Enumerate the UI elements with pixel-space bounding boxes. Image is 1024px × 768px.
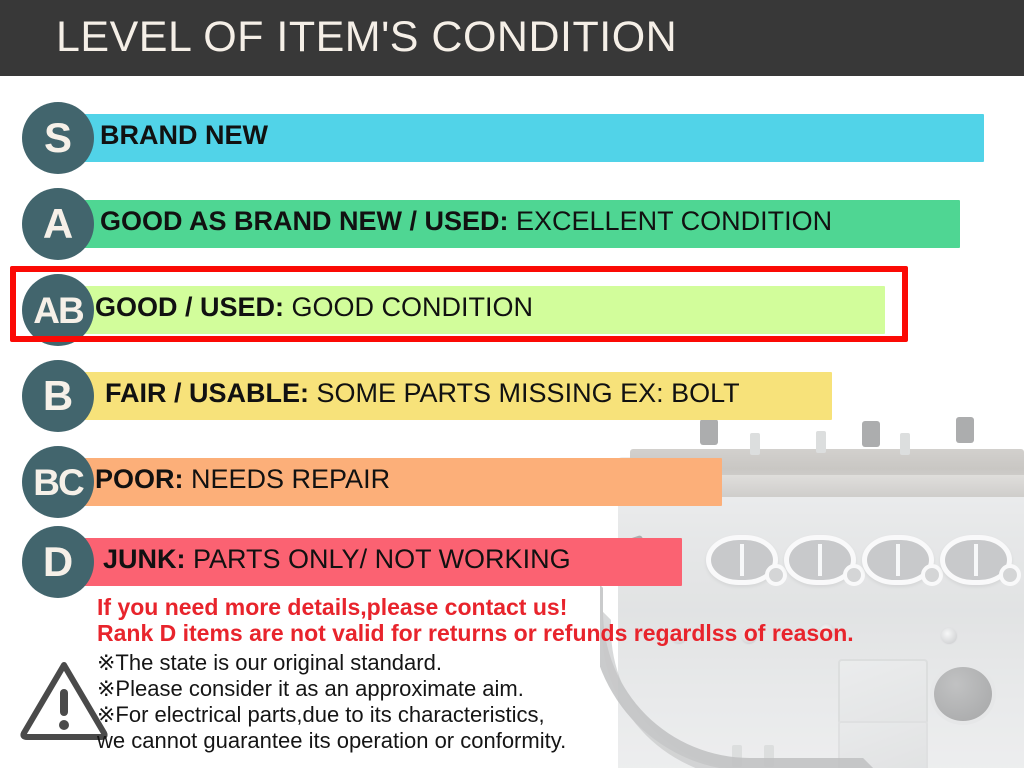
- rank-label-s: BRAND NEW: [100, 120, 268, 150]
- header-bar: LEVEL OF ITEM'S CONDITION: [0, 0, 1024, 76]
- rank-badge-d: D: [22, 526, 94, 598]
- rank-badge-s: S: [22, 102, 94, 174]
- notice-line-3: ※For electrical parts,due to its charact…: [97, 702, 997, 728]
- notice-block: If you need more details,please contact …: [97, 594, 997, 754]
- rank-text-d: JUNK: PARTS ONLY/ NOT WORKING: [103, 544, 571, 575]
- rank-badge-letter: BC: [33, 464, 82, 501]
- rank-text-b: FAIR / USABLE: SOME PARTS MISSING EX: BO…: [105, 378, 740, 409]
- selected-rank-highlight-box: [10, 266, 908, 342]
- condition-level-infographic: LEVEL OF ITEM'S CONDITION S BRAND NEW A …: [0, 0, 1024, 768]
- rank-text-s: BRAND NEW: [100, 120, 268, 151]
- rank-badge-letter: A: [43, 203, 73, 245]
- rank-badge-bc: BC: [22, 446, 94, 518]
- notice-line-2: ※Please consider it as an approximate ai…: [97, 676, 997, 702]
- rank-label-a: GOOD AS BRAND NEW / USED:: [100, 206, 509, 236]
- rank-desc-d: PARTS ONLY/ NOT WORKING: [186, 544, 571, 574]
- notice-red-line-2: Rank D items are not valid for returns o…: [97, 620, 997, 646]
- rank-text-bc: POOR: NEEDS REPAIR: [95, 464, 390, 495]
- rank-badge-letter: D: [43, 541, 73, 583]
- rank-desc-bc: NEEDS REPAIR: [184, 464, 391, 494]
- rank-label-b: FAIR / USABLE:: [105, 378, 309, 408]
- notice-red-line-1: If you need more details,please contact …: [97, 594, 997, 620]
- rank-desc-b: SOME PARTS MISSING EX: BOLT: [309, 378, 740, 408]
- notice-line-1: ※The state is our original standard.: [97, 650, 997, 676]
- rank-badge-a: A: [22, 188, 94, 260]
- rank-label-bc: POOR:: [95, 464, 184, 494]
- rank-badge-letter: S: [44, 117, 72, 159]
- rank-label-d: JUNK:: [103, 544, 186, 574]
- page-title: LEVEL OF ITEM'S CONDITION: [56, 13, 677, 62]
- rank-text-a: GOOD AS BRAND NEW / USED: EXCELLENT COND…: [100, 206, 832, 237]
- rank-badge-b: B: [22, 360, 94, 432]
- notice-line-4: we cannot guarantee its operation or con…: [97, 728, 997, 754]
- rank-desc-a: EXCELLENT CONDITION: [509, 206, 833, 236]
- rank-badge-letter: B: [43, 375, 73, 417]
